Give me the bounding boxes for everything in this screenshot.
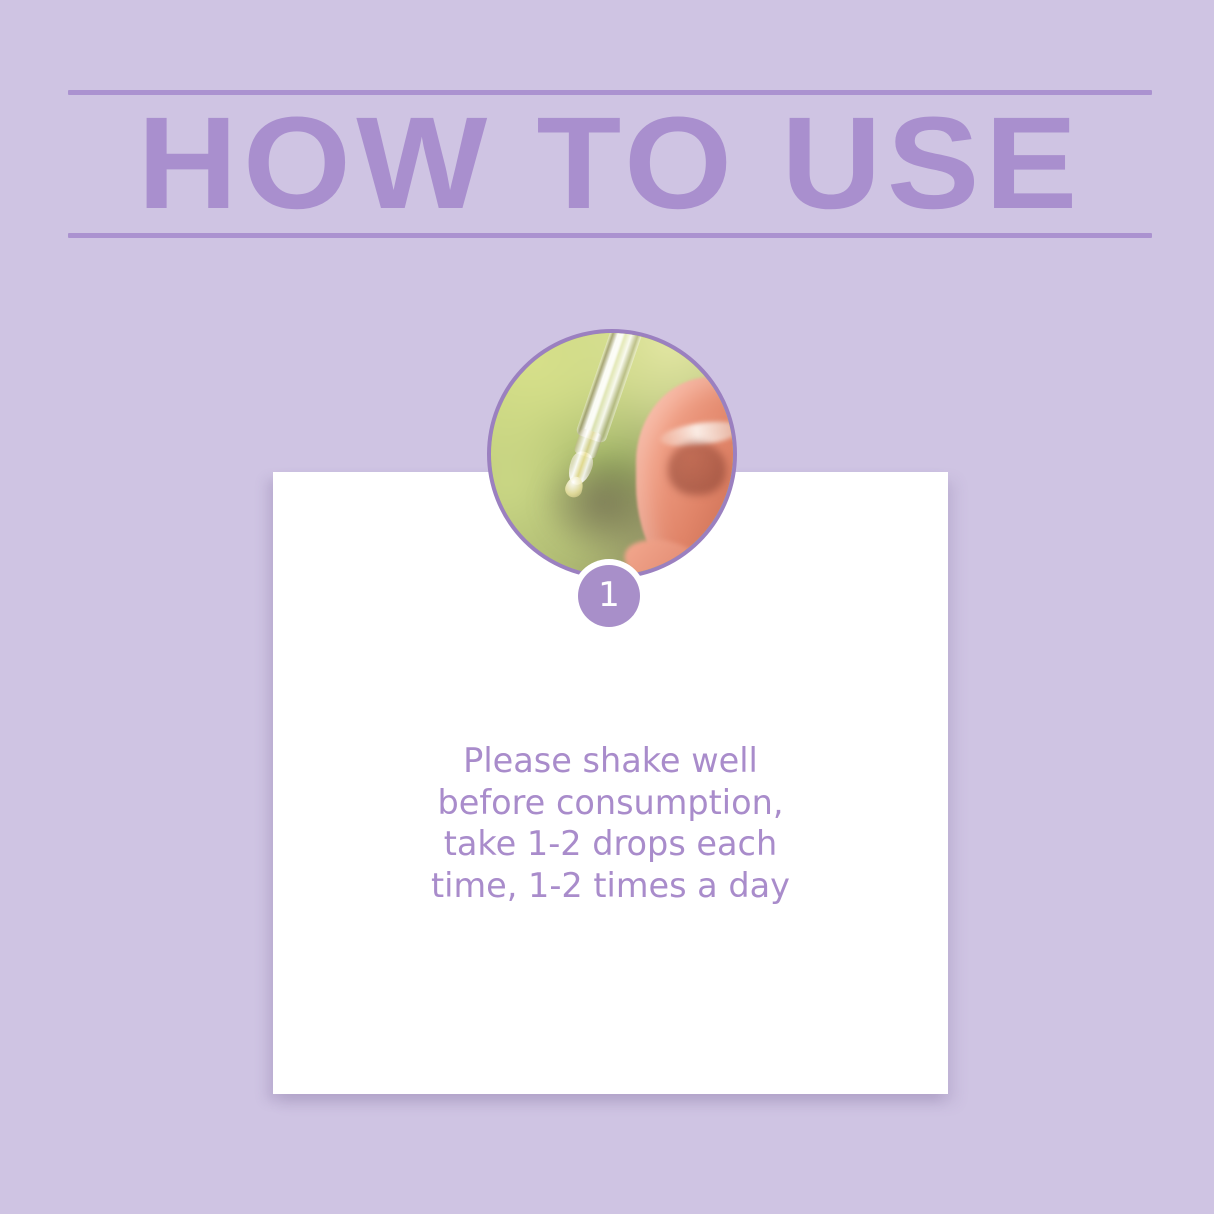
instruction-text: Please shake well before consumption, ta… <box>273 740 948 906</box>
step-photo <box>487 329 737 579</box>
step-number: 1 <box>578 565 640 627</box>
step-photo-image <box>491 333 733 575</box>
page-title: HOW TO USE <box>35 92 1184 233</box>
step-badge: 1 <box>572 559 646 633</box>
header: HOW TO USE <box>68 90 1152 238</box>
header-bottom-rule <box>68 233 1152 238</box>
how-to-use-panel: HOW TO USE Please shake well before cons… <box>0 0 1214 1214</box>
mouth-opening <box>668 442 726 495</box>
